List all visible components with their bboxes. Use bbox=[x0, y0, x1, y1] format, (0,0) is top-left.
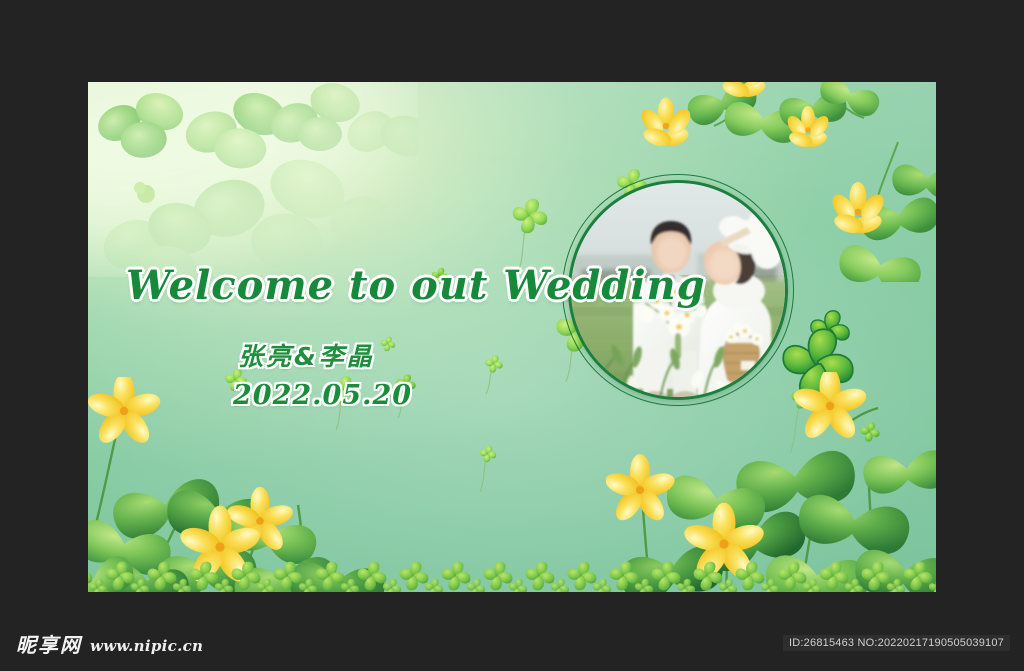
wedding-poster: Welcome to out Wedding 张亮&李晶 2022.05.20 bbox=[88, 82, 936, 592]
logo-chinese-text: 昵享网 bbox=[16, 635, 82, 655]
clover-bottom-border bbox=[88, 536, 936, 592]
logo-url-text: www.nipic.cn bbox=[90, 639, 203, 655]
page-title: Welcome to out Wedding bbox=[126, 262, 706, 309]
couple-names: 张亮&李晶 bbox=[238, 337, 375, 373]
watermark-footer: 昵享网 www.nipic.cn ID:26815463 NO:20220217… bbox=[0, 611, 1024, 671]
screenshot-stage: Welcome to out Wedding 张亮&李晶 2022.05.20 … bbox=[0, 0, 1024, 671]
asset-id-label: ID:26815463 NO:20220217190505039107 bbox=[783, 635, 1010, 651]
wedding-date: 2022.05.20 bbox=[233, 380, 412, 411]
nipic-logo: 昵享网 www.nipic.cn bbox=[16, 635, 203, 655]
